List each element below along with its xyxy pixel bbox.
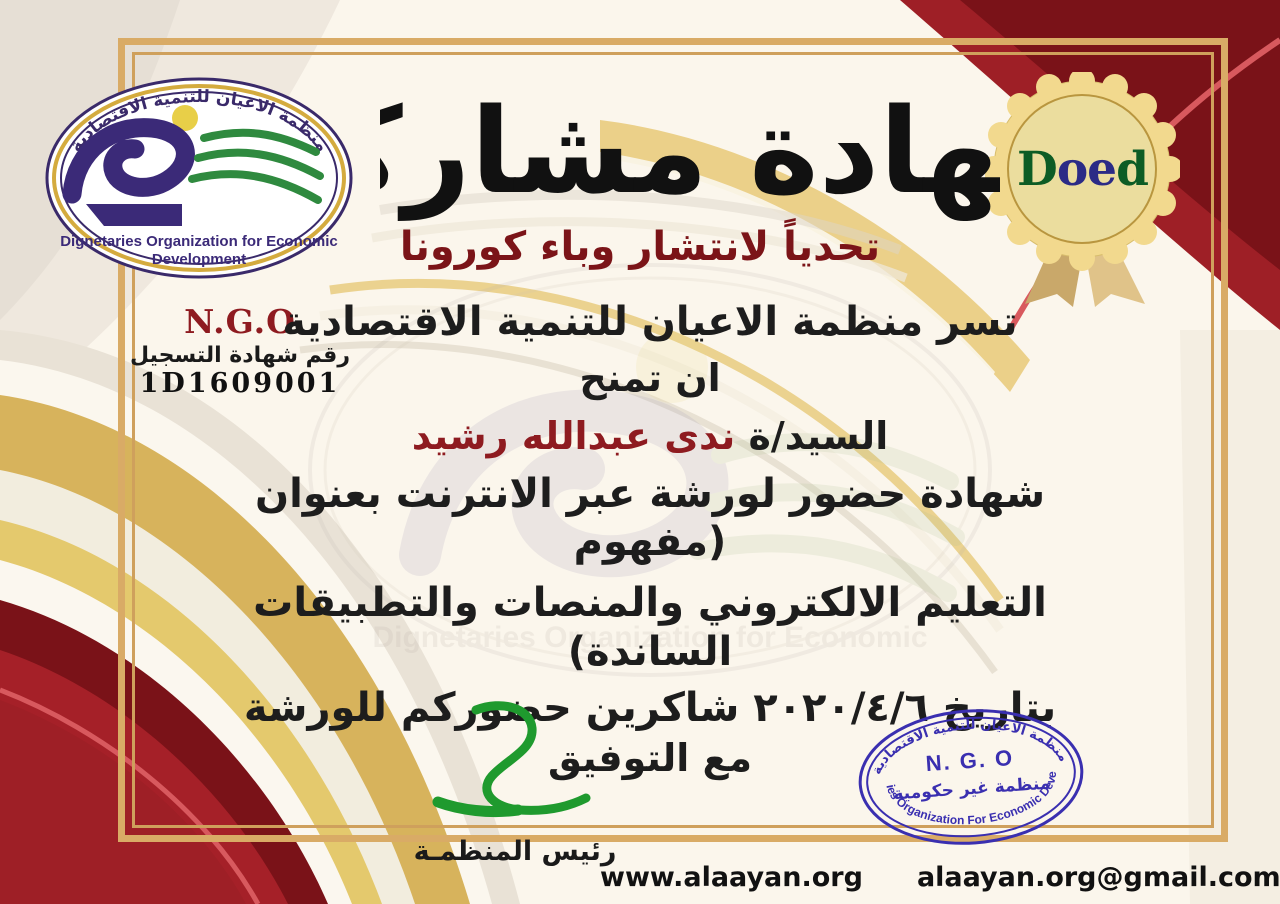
- line-organization: تسر منظمة الاعيان للتنمية الاقتصادية: [215, 300, 1085, 344]
- logo-english-line-1: Dignetaries Organization for Economic: [60, 233, 338, 250]
- line-description-1: شهادة حضور لورشة عبر الانترنت بعنوان (مف…: [215, 470, 1085, 568]
- badge-letter-first: D: [1017, 142, 1057, 197]
- recipient-prefix: السيد/ة: [748, 414, 888, 458]
- certificate-subtitle: تحدياً لانتشار وباء كورونا: [330, 224, 950, 270]
- footer-email[interactable]: alaayan.org@gmail.com: [917, 862, 1280, 893]
- certificate-title-text: شهادة مشاركة: [380, 82, 1000, 221]
- doed-badge-text: Doed: [985, 72, 1180, 267]
- president-signature: [398, 698, 628, 838]
- line-description-2: التعليم الالكتروني والمنصات والتطبيقات ا…: [215, 579, 1085, 677]
- footer-website[interactable]: www.alaayan.org: [600, 862, 863, 893]
- stamp-ngo-text: N. G. O: [925, 745, 1015, 776]
- official-stamp: منظمة الاعيان للتنمية الاقتصادية N. G. O…: [856, 706, 1086, 848]
- line-recipient: السيد/ة ندى عبدالله رشيد: [215, 416, 1085, 458]
- doed-rosette-badge: Doed: [985, 72, 1180, 307]
- recipient-name: ندى عبدالله رشيد: [412, 414, 735, 458]
- certificate-page: Dignetaries Organization for Economic من…: [0, 0, 1280, 904]
- badge-letter-last: d: [1116, 142, 1148, 197]
- logo-english-line-2: Development: [152, 251, 246, 268]
- badge-letter-mid: oe: [1057, 142, 1116, 197]
- certificate-title: شهادة مشاركة: [380, 62, 1000, 227]
- line-grant: ان تمنح: [215, 358, 1085, 400]
- organization-logo: منظمة الاعيان للتنمية الاقتصادية Digneta…: [44, 76, 354, 281]
- footer-contact: www.alaayan.org alaayan.org@gmail.com: [600, 862, 1260, 893]
